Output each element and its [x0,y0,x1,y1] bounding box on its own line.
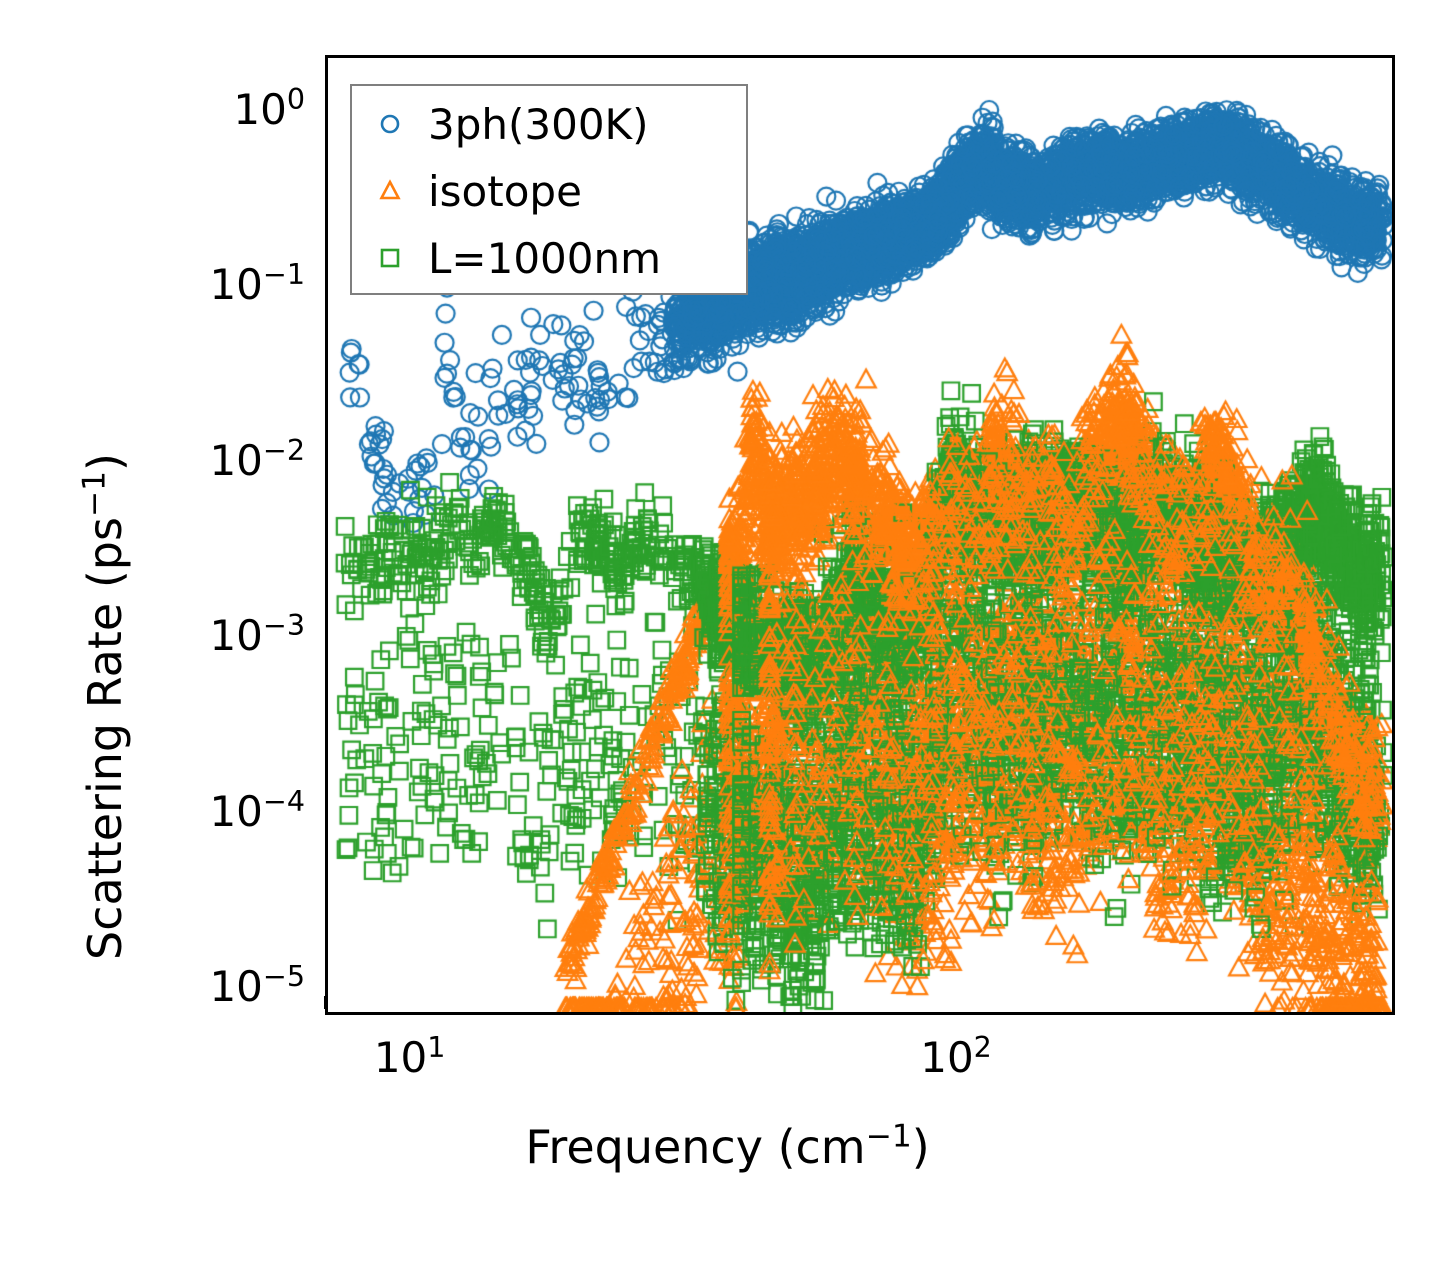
y-tick-label: 100 [233,85,305,134]
legend-entry-3ph[interactable]: 3ph(300K) [352,92,746,156]
legend-box[interactable]: 3ph(300K) isotope L=1000nm [350,84,748,295]
y-tick-label: 10−3 [209,611,305,660]
y-axis-label: Scattering Rate (ps−1) [78,453,132,960]
y-tick-label: 10−5 [209,962,305,1011]
y-tick-label: 10−4 [209,787,305,836]
circle-marker-icon [352,111,428,137]
legend-label-3ph: 3ph(300K) [428,100,648,149]
triangle-marker-icon [352,178,428,204]
legend-entry-isotope[interactable]: isotope [352,159,746,223]
y-tick-label: 10−1 [209,260,305,309]
legend-entry-boundary[interactable]: L=1000nm [352,226,746,290]
x-tick-label: 102 [866,1033,1046,1082]
scatter-plot-figure: 10010−110−210−310−410−5 101102 3ph(300K)… [0,0,1455,1265]
legend-label-boundary: L=1000nm [428,234,661,283]
x-tick-label: 101 [320,1033,500,1082]
square-marker-icon [352,245,428,271]
y-tick-label: 10−2 [209,436,305,485]
legend-label-isotope: isotope [428,167,582,216]
x-axis-label: Frequency (cm−1) [0,1120,1455,1174]
